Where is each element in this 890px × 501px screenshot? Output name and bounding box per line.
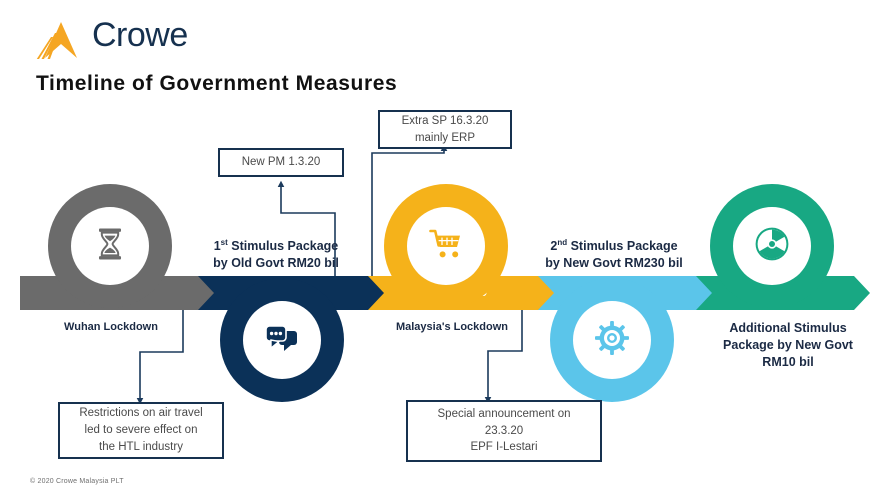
segment-2-caption-line2: by Old Govt RM20 bil bbox=[213, 256, 339, 270]
segment-5-circle bbox=[710, 184, 834, 308]
gear-icon bbox=[595, 321, 629, 360]
hourglass-icon bbox=[96, 228, 124, 265]
callout-epf: Special announcement on 23.3.20 EPF I-Le… bbox=[406, 400, 602, 462]
segment-5-caption: Additional Stimulus Package by New Govt … bbox=[700, 320, 876, 371]
shopping-cart-icon bbox=[429, 229, 463, 264]
segment-4-circle bbox=[550, 278, 674, 402]
callout-new-pm: New PM 1.3.20 bbox=[218, 148, 344, 177]
callout-restrictions: Restrictions on air travel led to severe… bbox=[58, 402, 224, 459]
segment-2-circle bbox=[220, 278, 344, 402]
callout-extra-sp: Extra SP 16.3.20 mainly ERP bbox=[378, 110, 512, 149]
copyright-footer: © 2020 Crowe Malaysia PLT bbox=[30, 478, 124, 485]
radiation-hazard-icon bbox=[755, 227, 789, 266]
segment-4-caption-line2: by New Govt RM230 bil bbox=[545, 256, 683, 270]
segment-2-caption: 1st Stimulus Package by Old Govt RM20 bi… bbox=[196, 238, 356, 272]
segment-4-caption-line1: 2nd Stimulus Package bbox=[550, 239, 677, 253]
infographic-canvas: Crowe Timeline of Government Measures 18… bbox=[0, 0, 890, 501]
segment-4-caption: 2nd Stimulus Package by New Govt RM230 b… bbox=[524, 238, 704, 272]
segment-3-caption: Malaysia's Lockdown bbox=[372, 320, 532, 335]
segment-2-caption-line1: 1st Stimulus Package bbox=[214, 239, 339, 253]
speech-bubbles-icon bbox=[265, 323, 299, 358]
segment-3-circle bbox=[384, 184, 508, 308]
segment-1-caption: Wuhan Lockdown bbox=[38, 320, 184, 335]
segment-1-circle bbox=[48, 184, 172, 308]
